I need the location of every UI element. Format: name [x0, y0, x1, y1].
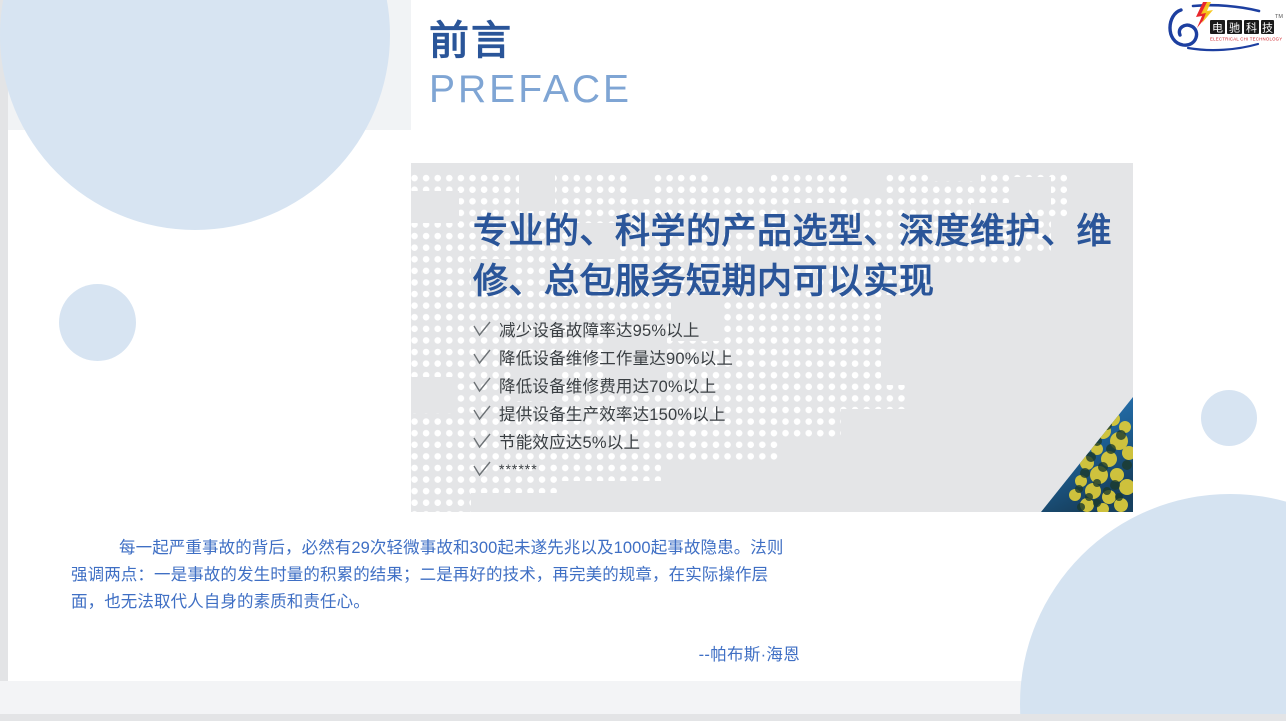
svg-text:电: 电	[1212, 22, 1223, 35]
list-item-label: 减少设备故障率达95%以上	[499, 317, 700, 341]
quote-card: 每一起严重事故的背后，必然有29次轻微事故和300起未遂先兆以及1000起事故隐…	[71, 513, 824, 677]
map-sea-region	[851, 163, 885, 193]
page-title-cn: 前言	[429, 21, 513, 61]
svg-text:技: 技	[1262, 22, 1273, 35]
map-sea-region	[1011, 177, 1051, 205]
svg-text:ELECTRICAL CHI TECHNOLOGY: ELECTRICAL CHI TECHNOLOGY	[1210, 37, 1282, 42]
headline-text: 专业的、科学的产品选型、深度维护、维修、总包服务短期内可以实现	[473, 207, 1133, 306]
check-icon	[473, 321, 499, 337]
check-icon	[473, 461, 499, 477]
quote-attribution: --帕布斯·海恩	[699, 641, 800, 665]
check-icon	[473, 433, 499, 449]
list-item: 减少设备故障率达95%以上	[473, 315, 733, 343]
check-icon	[473, 349, 499, 365]
check-icon	[473, 377, 499, 393]
slide-canvas: 前言 PREFACE 电 驰 科 技	[0, 0, 1286, 721]
world-map-panel: 专业的、科学的产品选型、深度维护、维修、总包服务短期内可以实现 减少设备故障率达…	[411, 163, 1133, 512]
company-logo: 电 驰 科 技 ELECTRICAL CHI TECHNOLOGY TM	[1163, 0, 1283, 55]
svg-text:科: 科	[1246, 21, 1257, 35]
list-item: 降低设备维修工作量达90%以上	[473, 343, 733, 371]
svg-text:TM: TM	[1275, 14, 1283, 20]
company-logo-icon: 电 驰 科 技 ELECTRICAL CHI TECHNOLOGY TM	[1163, 0, 1283, 55]
map-sea-region	[561, 481, 681, 512]
map-sea-region	[711, 163, 771, 185]
list-item: 节能效应达5%以上	[473, 427, 733, 455]
svg-text:驰: 驰	[1229, 21, 1240, 35]
list-item: 提供设备生产效率达150%以上	[473, 399, 733, 427]
map-sea-region	[631, 163, 653, 199]
benefits-list: 减少设备故障率达95%以上 降低设备维修工作量达90%以上 降低设备维修费用达7…	[473, 315, 733, 483]
list-item-label: 降低设备维修工作量达90%以上	[499, 345, 733, 369]
quote-body: 每一起严重事故的背后，必然有29次轻微事故和300起未遂先兆以及1000起事故隐…	[71, 535, 798, 617]
check-icon	[473, 405, 499, 421]
forest-photo-corner	[1041, 397, 1133, 512]
map-sea-region	[471, 493, 571, 512]
list-item: ******	[473, 455, 733, 483]
map-sea-region	[411, 191, 459, 223]
bottom-page-edge	[0, 714, 1286, 721]
header-panel: 前言 PREFACE	[411, 0, 1133, 130]
list-item-label: ******	[499, 461, 538, 477]
page-title-en: PREFACE	[429, 70, 632, 109]
decorative-circle-left-small	[59, 284, 136, 361]
decorative-circle-right-small	[1201, 390, 1257, 446]
list-item: 降低设备维修费用达70%以上	[473, 371, 733, 399]
map-sea-region	[411, 377, 455, 413]
list-item-label: 节能效应达5%以上	[499, 429, 640, 453]
map-sea-region	[881, 295, 971, 385]
map-sea-region	[519, 163, 555, 211]
list-item-label: 提供设备生产效率达150%以上	[499, 401, 726, 425]
map-sea-region	[931, 163, 981, 181]
list-item-label: 降低设备维修费用达70%以上	[499, 373, 716, 397]
left-page-edge	[0, 0, 8, 721]
